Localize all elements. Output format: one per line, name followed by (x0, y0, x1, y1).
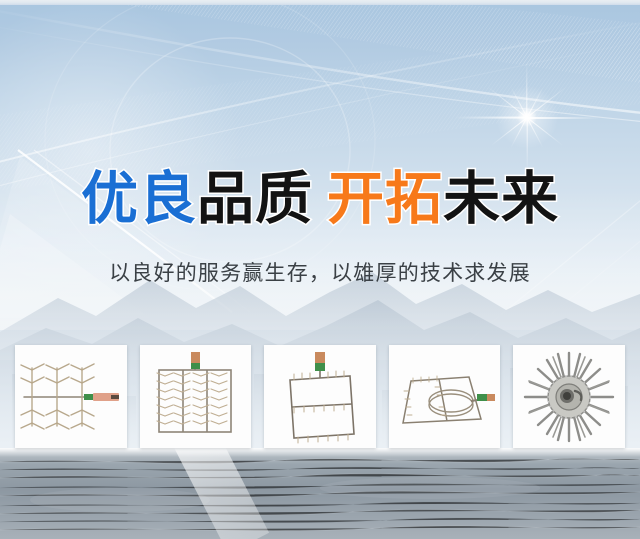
product-card[interactable] (513, 345, 625, 448)
product-card[interactable] (140, 345, 252, 448)
flare-core (517, 107, 537, 127)
multi-branch-heating-element-icon (18, 354, 123, 440)
page-title: 优良品质开拓未来 (0, 168, 640, 230)
radial-starburst-assembly-icon (523, 351, 615, 443)
headline-part-dark-2: 未来 (443, 166, 559, 232)
top-edge-strip (0, 0, 640, 5)
product-card[interactable] (389, 345, 501, 448)
ground-highlight (0, 448, 640, 457)
promo-banner: 优良品质开拓未来 以良好的服务赢生存，以雄厚的技术求发展 (0, 0, 640, 539)
ground-surface (0, 448, 640, 539)
flare-ray (527, 117, 599, 119)
ground-texture (0, 448, 640, 539)
rectangular-frame-element-icon (276, 350, 364, 444)
headline-part-blue: 优良 (81, 166, 197, 232)
frame-with-coil-element-icon (395, 361, 495, 433)
page-subtitle: 以良好的服务赢生存，以雄厚的技术求发展 (0, 258, 640, 288)
dense-fin-heating-rack-icon (149, 350, 241, 444)
product-card[interactable] (15, 345, 127, 448)
headline-part-orange: 开拓 (327, 166, 443, 232)
product-card[interactable] (264, 345, 376, 448)
headline-part-dark-1: 品质 (197, 166, 313, 232)
product-card-list (15, 345, 625, 448)
